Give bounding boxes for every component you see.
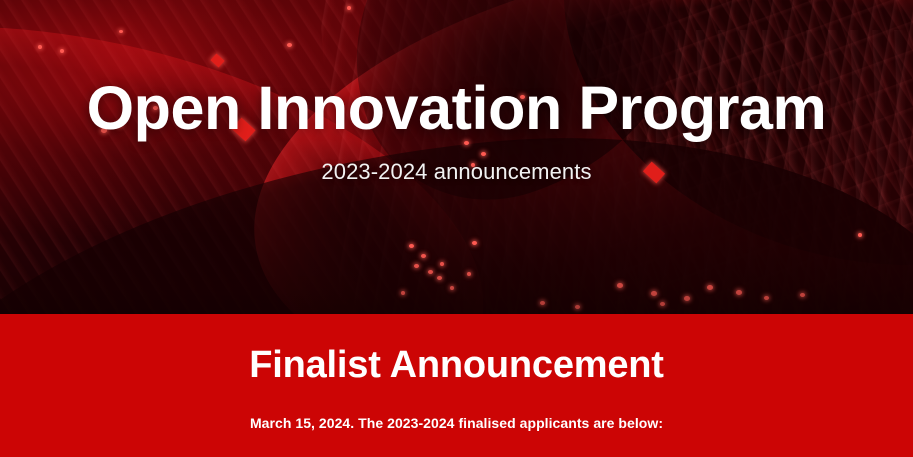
announcement-page: Open Innovation Program 2023-2024 announ… xyxy=(0,0,913,457)
announcement-heading: Finalist Announcement xyxy=(0,344,913,387)
hero-banner: Open Innovation Program 2023-2024 announ… xyxy=(0,0,913,314)
announcement-note: March 15, 2024. The 2023-2024 finalised … xyxy=(0,415,913,431)
page-subtitle: 2023-2024 announcements xyxy=(321,159,591,185)
announcement-band: Finalist Announcement March 15, 2024. Th… xyxy=(0,314,913,457)
hero-copy-block: Open Innovation Program 2023-2024 announ… xyxy=(0,0,913,314)
page-title: Open Innovation Program xyxy=(87,77,827,140)
